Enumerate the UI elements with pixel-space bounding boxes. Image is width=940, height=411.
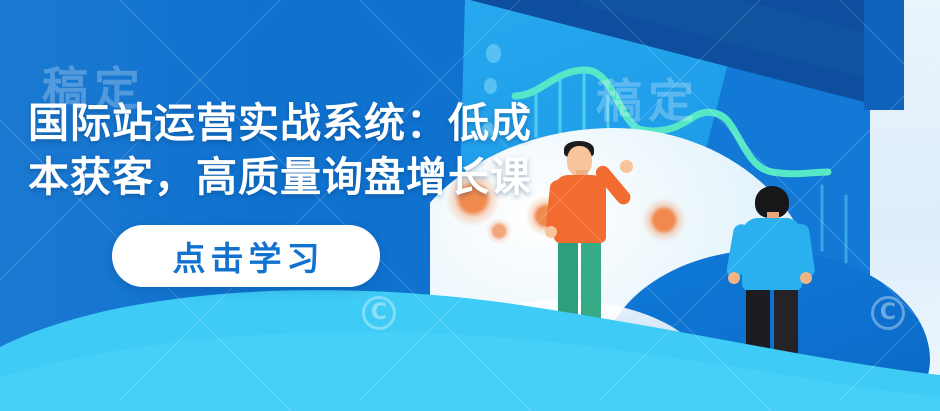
click-to-learn-button[interactable]: 点击学习	[112, 225, 380, 287]
watermark-copyright-icon: C	[362, 296, 396, 330]
click-to-learn-label: 点击学习	[168, 232, 325, 280]
watermark-copyright-icon: C	[871, 296, 905, 330]
banner-title: 国际站运营实战系统：低成 本获客，高质量询盘增长课	[28, 96, 628, 204]
course-promo-banner: 稿定 稿定 C C 国际站运营实战系统：低成 本获客，高质量询盘增长课 点击学习	[0, 0, 940, 411]
figure-left-hand	[545, 226, 557, 238]
data-point-dot	[642, 198, 686, 242]
data-point-dot	[486, 218, 512, 244]
